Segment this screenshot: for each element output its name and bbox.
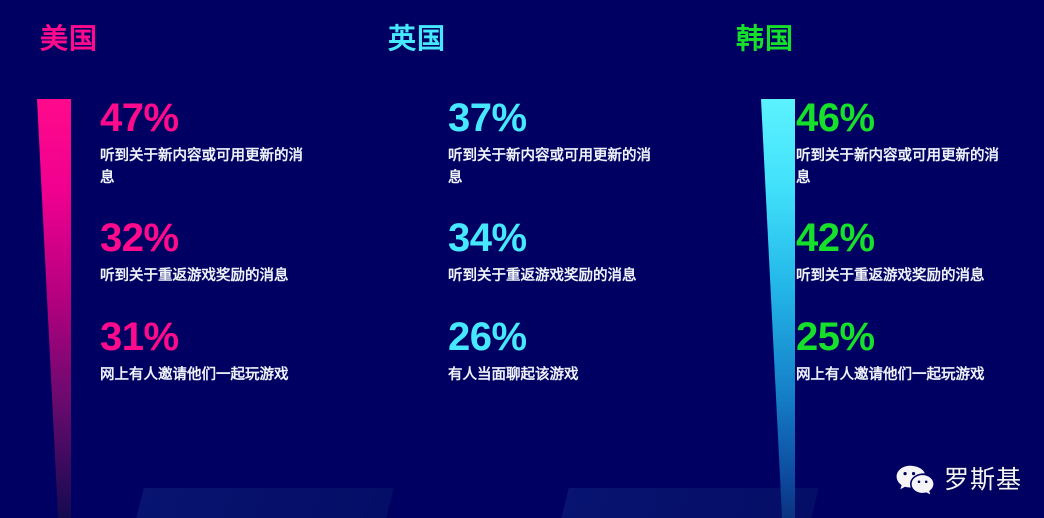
stat-value: 37% [448,96,678,141]
stat-item: 26% 有人当面聊起该游戏 [448,315,678,386]
stat-label: 网上有人邀请他们一起玩游戏 [796,364,1011,386]
stat-list-uk: 37% 听到关于新内容或可用更新的消息 34% 听到关于重返游戏奖励的消息 26… [448,96,678,408]
stat-value: 42% [796,216,1026,261]
infographic-slide: 美国 47% 听到关于新内容或可用更新的消息 32% 听到关于重返游戏奖励的消息… [0,0,1044,518]
stat-value: 46% [796,96,1026,141]
stat-label: 听到关于新内容或可用更新的消息 [100,145,315,190]
stat-label: 有人当面聊起该游戏 [448,364,663,386]
stat-label: 听到关于新内容或可用更新的消息 [448,145,663,190]
country-columns: 美国 47% 听到关于新内容或可用更新的消息 32% 听到关于重返游戏奖励的消息… [0,0,1044,518]
stat-item: 42% 听到关于重返游戏奖励的消息 [796,216,1026,287]
wechat-icon [895,464,935,496]
stat-value: 25% [796,315,1026,360]
stat-list-us: 47% 听到关于新内容或可用更新的消息 32% 听到关于重返游戏奖励的消息 31… [100,96,330,408]
watermark: 罗斯基 [895,464,1022,496]
stat-value: 26% [448,315,678,360]
stat-label: 网上有人邀请他们一起玩游戏 [100,364,315,386]
stat-value: 32% [100,216,330,261]
country-title-kr: 韩国 [736,25,794,53]
stat-item: 25% 网上有人邀请他们一起玩游戏 [796,315,1026,386]
stat-value: 34% [448,216,678,261]
country-column-uk: 英国 37% 听到关于新内容或可用更新的消息 34% 听到关于重返游戏奖励的消息… [348,0,696,518]
country-column-kr: 韩国 46% 听到关于新内容或可用更新的消息 42% 听到关于重返游戏奖励的消息… [696,0,1044,518]
country-column-us: 美国 47% 听到关于新内容或可用更新的消息 32% 听到关于重返游戏奖励的消息… [0,0,348,518]
stat-item: 32% 听到关于重返游戏奖励的消息 [100,216,330,287]
stat-label: 听到关于重返游戏奖励的消息 [448,265,663,287]
stat-label: 听到关于重返游戏奖励的消息 [100,265,315,287]
stat-item: 37% 听到关于新内容或可用更新的消息 [448,96,678,190]
stat-item: 31% 网上有人邀请他们一起玩游戏 [100,315,330,386]
stat-label: 听到关于重返游戏奖励的消息 [796,265,1011,287]
stat-label: 听到关于新内容或可用更新的消息 [796,145,1011,190]
stat-list-kr: 46% 听到关于新内容或可用更新的消息 42% 听到关于重返游戏奖励的消息 25… [796,96,1026,408]
stat-item: 47% 听到关于新内容或可用更新的消息 [100,96,330,190]
stat-item: 34% 听到关于重返游戏奖励的消息 [448,216,678,287]
stat-value: 47% [100,96,330,141]
stat-value: 31% [100,315,330,360]
country-title-uk: 英国 [388,25,446,53]
country-title-us: 美国 [40,25,98,53]
wedge-bar-us [37,99,71,518]
stat-item: 46% 听到关于新内容或可用更新的消息 [796,96,1026,190]
watermark-text: 罗斯基 [944,468,1022,493]
